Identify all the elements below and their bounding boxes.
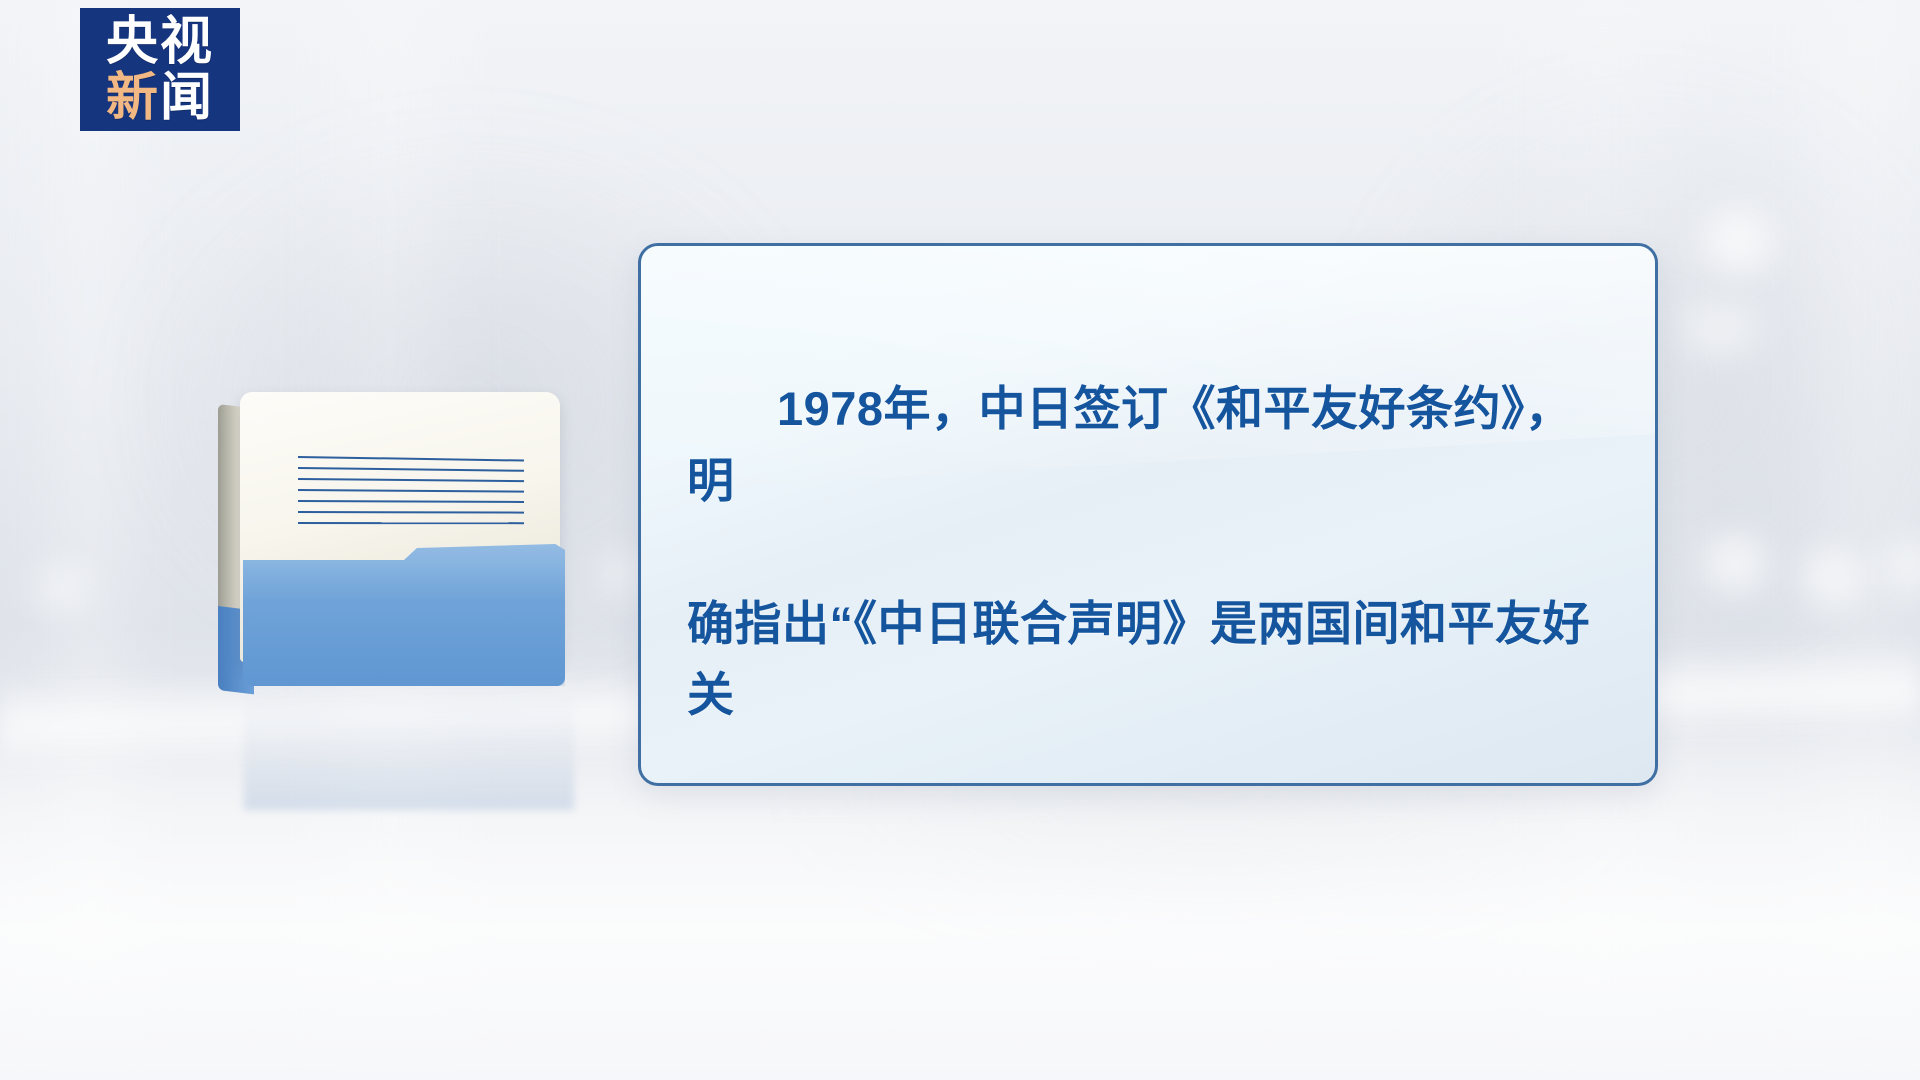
cctv-news-logo: 央视 新闻 (80, 8, 240, 131)
logo-text-xin: 新 (106, 72, 160, 124)
broadcast-graphic-stage: 央视 新闻 1978年，中日签订《和平友好条约》，明 (0, 0, 1920, 1080)
paper-rule-line (298, 478, 524, 482)
paper-rule-line (298, 511, 524, 514)
background-light-band (1790, 0, 1920, 1080)
bokeh-light (1690, 530, 1780, 602)
document-folder-icon (218, 392, 590, 692)
paper-rule-line (298, 456, 524, 462)
bokeh-light (1874, 535, 1920, 605)
card-body-text: 1978年，中日签订《和平友好条约》，明 确指出“《中日联合声明》是两国间和平友… (687, 302, 1609, 786)
folder-front-pocket (243, 544, 565, 686)
logo-text-wen: 闻 (160, 72, 214, 124)
quote-card: 1978年，中日签订《和平友好条约》，明 确指出“《中日联合声明》是两国间和平友… (638, 243, 1658, 786)
paper-rule-line (298, 522, 524, 524)
logo-line-yangshi: 央视 (106, 16, 214, 68)
paper-rule-line (298, 500, 524, 503)
card-text-line: 1978年，中日签订《和平友好条约》，明 (687, 373, 1609, 516)
card-text-line: 确指出“《中日联合声明》是两国间和平友好关 (687, 588, 1609, 731)
paper-rule-lines (298, 456, 524, 533)
paper-rule-line (298, 467, 524, 472)
paper-rule-line (298, 489, 524, 493)
logo-line-xinwen: 新闻 (106, 72, 214, 124)
bokeh-light (1690, 205, 1786, 283)
logo-text-yangshi: 央视 (106, 16, 214, 68)
bokeh-light (1660, 300, 1780, 360)
bokeh-light (1790, 545, 1876, 615)
background-light-band (30, 0, 150, 1080)
folder-reflection (244, 690, 574, 810)
bokeh-light (22, 560, 102, 620)
